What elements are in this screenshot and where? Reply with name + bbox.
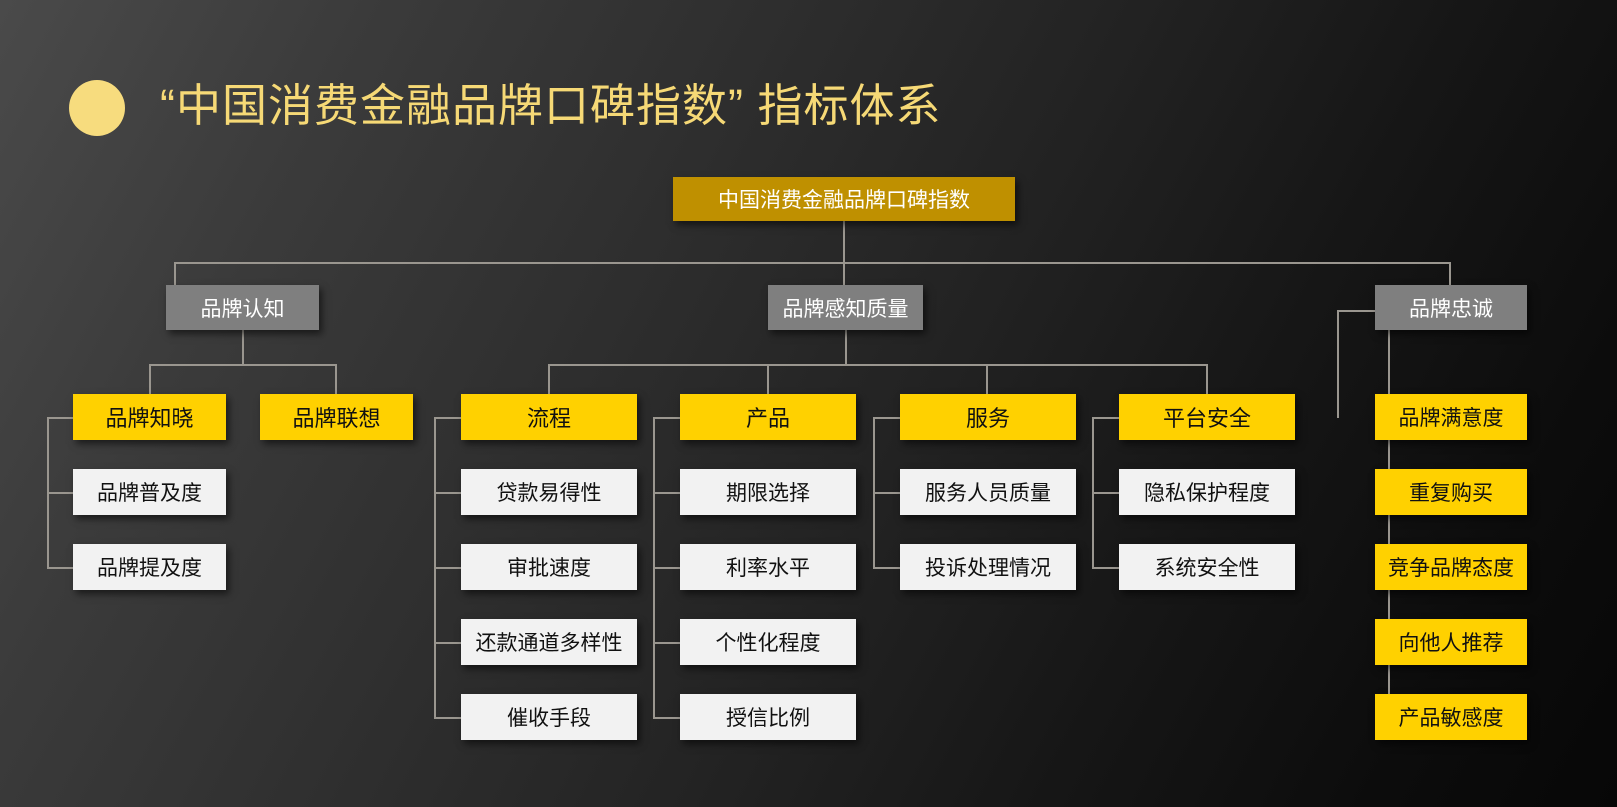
bracket-stub-platform-security-head — [1092, 417, 1119, 419]
node-leaf-staff-quality[interactable]: 服务人员质量 — [900, 469, 1076, 515]
connector-to-sub-product — [767, 364, 769, 394]
bracket-stub-brand-penetration — [47, 492, 74, 494]
connector-to-sub-platform-security — [1206, 364, 1208, 394]
connector-to-cat-perceived-quality — [843, 262, 845, 285]
bracket-stub-loan-accessibility — [434, 492, 461, 494]
node-root[interactable]: 中国消费金融品牌口碑指数 — [673, 177, 1015, 221]
bracket-stub-product-head — [653, 417, 680, 419]
node-leaf-approval-speed[interactable]: 审批速度 — [461, 544, 637, 590]
node-leaf-competitor-attitude[interactable]: 竞争品牌态度 — [1375, 544, 1527, 590]
node-leaf-brand-satisfaction[interactable]: 品牌满意度 — [1375, 394, 1527, 440]
bracket-stub-approval-speed — [434, 567, 461, 569]
node-leaf-repeat-purchase[interactable]: 重复购买 — [1375, 469, 1527, 515]
bracket-stub-collection-methods — [434, 717, 461, 719]
bracket-stub-personalization — [653, 642, 680, 644]
node-leaf-system-security[interactable]: 系统安全性 — [1119, 544, 1295, 590]
node-sub-service[interactable]: 服务 — [900, 394, 1076, 440]
bracket-stub-term-choice — [653, 492, 680, 494]
node-leaf-complaint-handling[interactable]: 投诉处理情况 — [900, 544, 1076, 590]
connector-awareness-bus — [149, 364, 336, 366]
node-sub-platform-security[interactable]: 平台安全 — [1119, 394, 1295, 440]
node-leaf-credit-ratio[interactable]: 授信比例 — [680, 694, 856, 740]
connector-to-cat-brand-loyalty — [1449, 262, 1451, 285]
node-category-brand-awareness[interactable]: 品牌认知 — [166, 285, 319, 330]
node-category-perceived-quality[interactable]: 品牌感知质量 — [768, 285, 923, 330]
connector-root-bus — [174, 262, 1450, 264]
node-sub-brand-association[interactable]: 品牌联想 — [260, 394, 413, 440]
connector-to-sub-service — [986, 364, 988, 394]
node-sub-process[interactable]: 流程 — [461, 394, 637, 440]
bracket-stub-complaint-handling — [873, 567, 900, 569]
bracket-spine-brand-loyalty — [1337, 310, 1339, 418]
connector-to-sub-process — [548, 364, 550, 394]
node-leaf-loan-accessibility[interactable]: 贷款易得性 — [461, 469, 637, 515]
slide-header: “中国消费金融品牌口碑指数” 指标体系 — [0, 0, 1617, 165]
bracket-stub-staff-quality — [873, 492, 900, 494]
node-leaf-brand-mention[interactable]: 品牌提及度 — [73, 544, 226, 590]
bracket-stub-privacy-protection — [1092, 492, 1119, 494]
bracket-stub-service-head — [873, 417, 900, 419]
bracket-stub-brand-mention — [47, 567, 74, 569]
bracket-stub-credit-ratio — [653, 717, 680, 719]
node-leaf-repayment-channels[interactable]: 还款通道多样性 — [461, 619, 637, 665]
node-leaf-interest-rate[interactable]: 利率水平 — [680, 544, 856, 590]
bracket-stub-system-security — [1092, 567, 1119, 569]
node-leaf-product-sensitivity[interactable]: 产品敏感度 — [1375, 694, 1527, 740]
node-leaf-personalization[interactable]: 个性化程度 — [680, 619, 856, 665]
connector-quality-down — [845, 330, 847, 365]
connector-awareness-down — [242, 330, 244, 365]
node-leaf-term-choice[interactable]: 期限选择 — [680, 469, 856, 515]
node-leaf-privacy-protection[interactable]: 隐私保护程度 — [1119, 469, 1295, 515]
node-leaf-recommend-others[interactable]: 向他人推荐 — [1375, 619, 1527, 665]
slide-canvas: “中国消费金融品牌口碑指数” 指标体系 — [0, 0, 1617, 807]
node-category-brand-loyalty[interactable]: 品牌忠诚 — [1375, 285, 1527, 330]
filled-circle-icon — [69, 80, 125, 136]
bracket-stub-brand-loyalty-head — [1337, 310, 1375, 312]
bracket-stub-process-head — [434, 417, 461, 419]
node-sub-product[interactable]: 产品 — [680, 394, 856, 440]
bracket-stub-brand-knowing-head — [47, 417, 74, 419]
connector-to-cat-brand-awareness — [174, 262, 176, 285]
connector-quality-bus — [548, 364, 1207, 366]
connector-to-sub-brand-association — [335, 364, 337, 394]
node-leaf-collection-methods[interactable]: 催收手段 — [461, 694, 637, 740]
bracket-stub-interest-rate — [653, 567, 680, 569]
node-leaf-brand-penetration[interactable]: 品牌普及度 — [73, 469, 226, 515]
node-sub-brand-knowing[interactable]: 品牌知晓 — [73, 394, 226, 440]
connector-to-sub-brand-knowing — [149, 364, 151, 394]
bracket-stub-repayment-channels — [434, 642, 461, 644]
connector-root-down — [843, 220, 845, 263]
page-title: “中国消费金融品牌口碑指数” 指标体系 — [160, 74, 941, 138]
